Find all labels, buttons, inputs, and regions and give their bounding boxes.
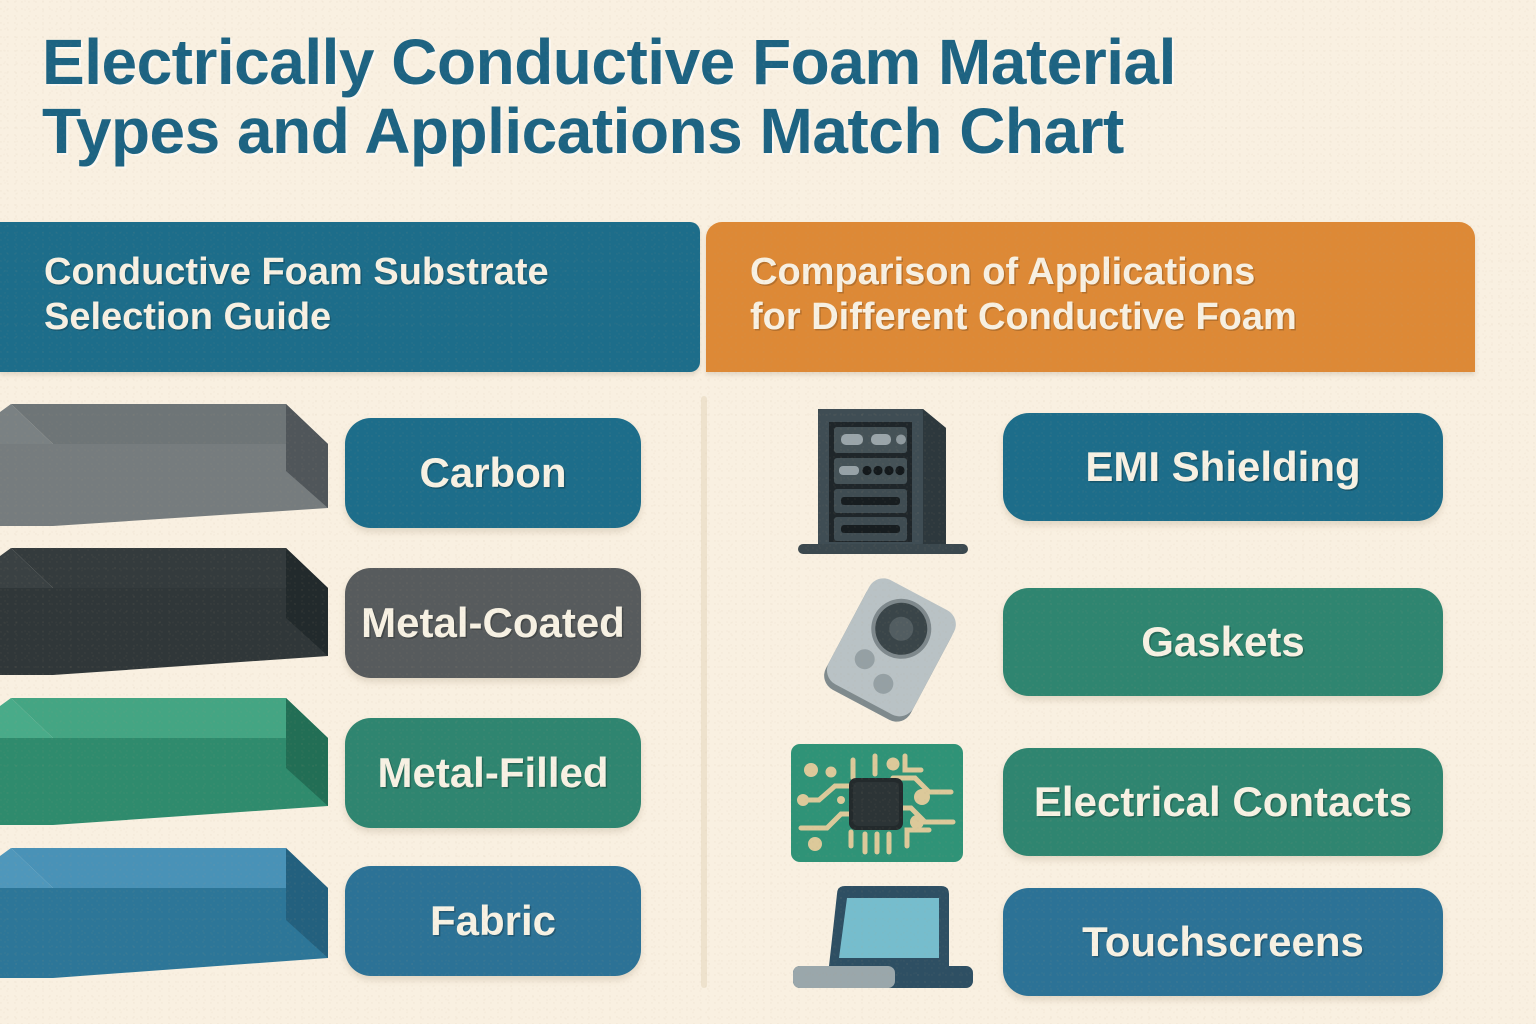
substrate-pill-fabric-label: Fabric [430,897,556,945]
remote-control-icon [790,578,990,723]
application-pill-emi-shielding-label: EMI Shielding [1085,443,1360,491]
application-pill-electrical-contacts-label: Electrical Contacts [1034,778,1412,826]
right-header-line-1: Comparison of Applications [750,250,1297,295]
server-rack-icon [788,396,978,566]
right-column-header: Comparison of Applications for Different… [706,222,1475,372]
substrate-pill-metal-filled-label: Metal-Filled [377,749,608,797]
infographic-canvas: Electrically Conductive Foam Material Ty… [0,0,1536,1024]
laptop-icon [793,874,973,994]
substrate-pill-fabric[interactable]: Fabric [345,866,641,976]
foam-block-metal-filled-icon [0,690,328,840]
foam-block-fabric-icon [0,840,328,990]
substrate-pill-carbon-label: Carbon [420,449,567,497]
foam-block-metal-coated-icon [0,540,328,690]
application-pill-emi-shielding[interactable]: EMI Shielding [1003,413,1443,521]
left-header-line-2: Selection Guide [44,295,549,340]
page-title-line-1: Electrically Conductive Foam Material [42,26,1176,98]
application-pill-touchscreens-label: Touchscreens [1082,918,1364,966]
left-header-line-1: Conductive Foam Substrate [44,250,549,295]
substrate-pill-metal-coated[interactable]: Metal-Coated [345,568,641,678]
substrate-pill-metal-coated-label: Metal-Coated [361,599,625,647]
right-header-line-2: for Different Conductive Foam [750,295,1297,340]
application-pill-gaskets[interactable]: Gaskets [1003,588,1443,696]
substrate-pill-metal-filled[interactable]: Metal-Filled [345,718,641,828]
application-pill-gaskets-label: Gaskets [1141,618,1304,666]
left-column-header: Conductive Foam Substrate Selection Guid… [0,222,700,372]
application-pill-electrical-contacts[interactable]: Electrical Contacts [1003,748,1443,856]
column-divider [701,396,707,988]
circuit-board-icon [789,742,965,864]
page-title: Electrically Conductive Foam Material Ty… [42,28,1442,166]
page-title-line-2: Types and Applications Match Chart [42,97,1442,166]
foam-block-carbon-icon [0,396,328,546]
application-pill-touchscreens[interactable]: Touchscreens [1003,888,1443,996]
substrate-pill-carbon[interactable]: Carbon [345,418,641,528]
